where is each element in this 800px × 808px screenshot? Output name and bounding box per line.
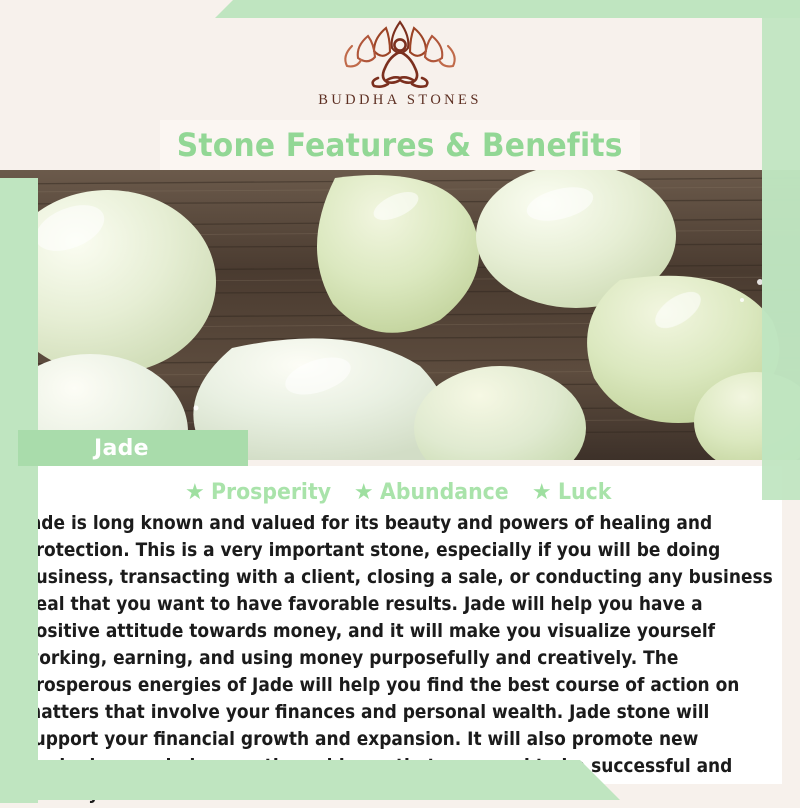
benefit-item: ★ Luck	[532, 480, 615, 505]
decor-band-right-overlay	[762, 170, 800, 460]
decor-band-left-overlay	[0, 178, 38, 438]
stone-name-label: Jade	[94, 436, 149, 461]
content-panel: ★ Prosperity ★ Abundance ★ Luck Jade is …	[18, 466, 782, 784]
stone-name-badge: Jade	[18, 430, 248, 466]
benefit-item: ★ Abundance	[354, 480, 518, 505]
photo-illustration	[0, 170, 800, 460]
star-icon: ★	[354, 481, 374, 503]
benefit-label: Prosperity	[211, 480, 331, 505]
jade-stones-photo	[0, 170, 800, 460]
decor-band-top	[215, 0, 800, 18]
decor-band-bottom	[0, 760, 620, 800]
benefits-row: ★ Prosperity ★ Abundance ★ Luck	[18, 476, 782, 508]
infographic-page: BUDDHA STONES Stone Features & Benefits …	[0, 0, 800, 800]
page-title: Stone Features & Benefits	[177, 126, 623, 164]
benefit-label: Abundance	[380, 480, 509, 505]
benefit-item: ★ Prosperity	[185, 480, 340, 505]
lotus-meditation-icon	[340, 18, 460, 90]
star-icon: ★	[532, 481, 552, 503]
brand-name: BUDDHA STONES	[318, 92, 482, 109]
brand-logo: BUDDHA STONES	[0, 18, 800, 120]
benefit-label: Luck	[558, 480, 611, 505]
star-icon: ★	[185, 481, 205, 503]
title-banner: Stone Features & Benefits	[160, 120, 640, 170]
